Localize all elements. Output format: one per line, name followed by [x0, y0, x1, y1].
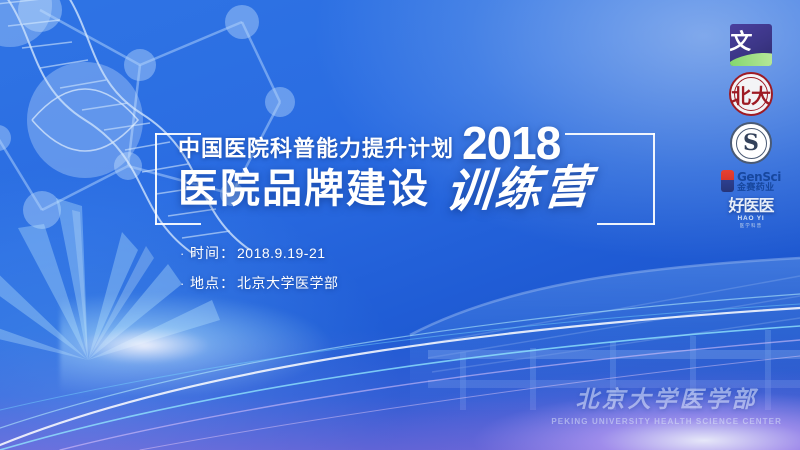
- bracket-right-bottom: [597, 223, 655, 225]
- time-value: 2018.9.19-21: [237, 245, 326, 261]
- haoyi-name-en: HAO YI: [737, 216, 764, 223]
- haoyi-subtitle: 医学科普: [740, 224, 763, 229]
- headline-line-one: 中国医院科普能力提升计划 2018: [178, 120, 678, 164]
- shou-seal-logo[interactable]: S: [730, 122, 772, 164]
- gensci-name-en: GenSci: [737, 171, 781, 183]
- gensci-logo[interactable]: GenSci 金赛药业: [721, 170, 781, 192]
- headline-block: 中国医院科普能力提升计划 2018 医院品牌建设 训练营: [178, 120, 678, 212]
- event-info: · 时间： 2018.9.19-21 · 地点： 北京大学医学部: [180, 243, 339, 303]
- kepu-china-glyph: 文: [730, 24, 772, 56]
- bullet-icon: ·: [180, 276, 190, 291]
- haoyi-logo[interactable]: 好医医 HAO YI 医学科普: [728, 198, 773, 228]
- bracket-left-bottom: [155, 223, 201, 225]
- gensci-figure-icon: [721, 170, 734, 192]
- peking-university-seal[interactable]: 北大: [729, 72, 773, 116]
- calligraphy-title: 训练营: [444, 163, 596, 214]
- info-row-location: · 地点： 北京大学医学部: [180, 273, 339, 293]
- page-title: 医院品牌建设: [178, 168, 430, 210]
- bullet-icon: ·: [180, 246, 190, 261]
- sponsor-logo-column: 文 北大 S GenSci 金赛药业 好医医 HAO YI 医学科普: [714, 24, 788, 228]
- watermark-cn: 北京大学医学部: [551, 380, 782, 414]
- time-label: 时间：: [190, 243, 235, 263]
- s-monogram-glyph: S: [732, 124, 770, 162]
- year-label: 2018: [462, 122, 560, 164]
- headline-line-two: 医院品牌建设 训练营: [178, 166, 678, 212]
- venue-watermark: 北京大学医学部 PEKING UNIVERSITY HEALTH SCIENCE…: [551, 380, 782, 426]
- event-poster: 中国医院科普能力提升计划 2018 医院品牌建设 训练营 · 时间： 2018.…: [0, 0, 800, 450]
- pku-seal-glyph: 北大: [731, 74, 771, 114]
- program-name: 中国医院科普能力提升计划: [178, 138, 454, 164]
- location-label: 地点：: [190, 273, 235, 293]
- haoyi-name-cn: 好医医: [728, 198, 773, 214]
- bracket-left-vertical: [155, 133, 157, 225]
- gensci-name-cn: 金赛药业: [737, 183, 781, 192]
- info-row-time: · 时间： 2018.9.19-21: [180, 243, 339, 263]
- location-value: 北京大学医学部: [237, 273, 339, 293]
- watermark-en: PEKING UNIVERSITY HEALTH SCIENCE CENTER: [551, 417, 782, 426]
- kepu-china-logo[interactable]: 文: [730, 24, 772, 66]
